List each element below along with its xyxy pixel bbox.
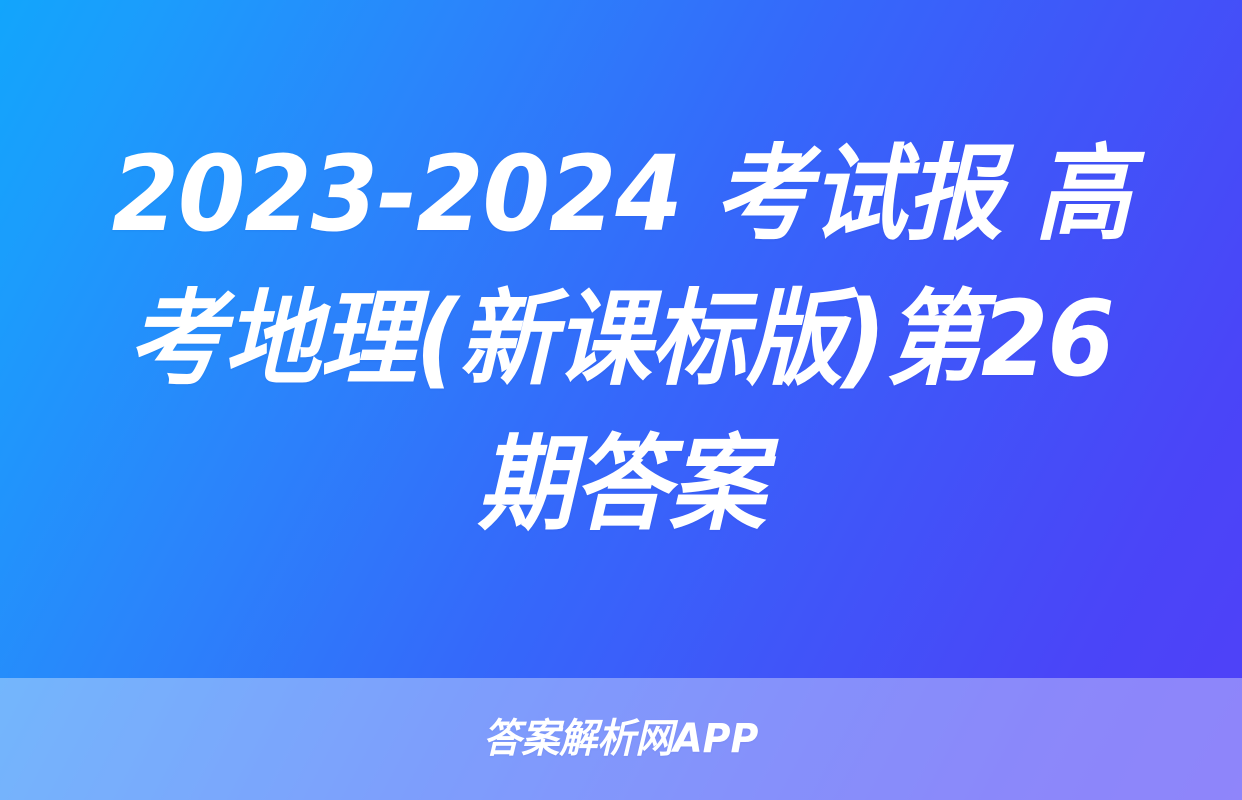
footer-watermark-band: 答案解析网APP xyxy=(0,678,1242,800)
page-title: 2023-2024 考试报 高考地理(新课标版)第26期答案 xyxy=(110,122,1133,557)
headline-container: 2023-2024 考试报 高考地理(新课标版)第26期答案 xyxy=(0,0,1242,678)
poster-canvas: 2023-2024 考试报 高考地理(新课标版)第26期答案 答案解析网APP xyxy=(0,0,1242,800)
watermark-text: 答案解析网APP xyxy=(483,717,758,761)
